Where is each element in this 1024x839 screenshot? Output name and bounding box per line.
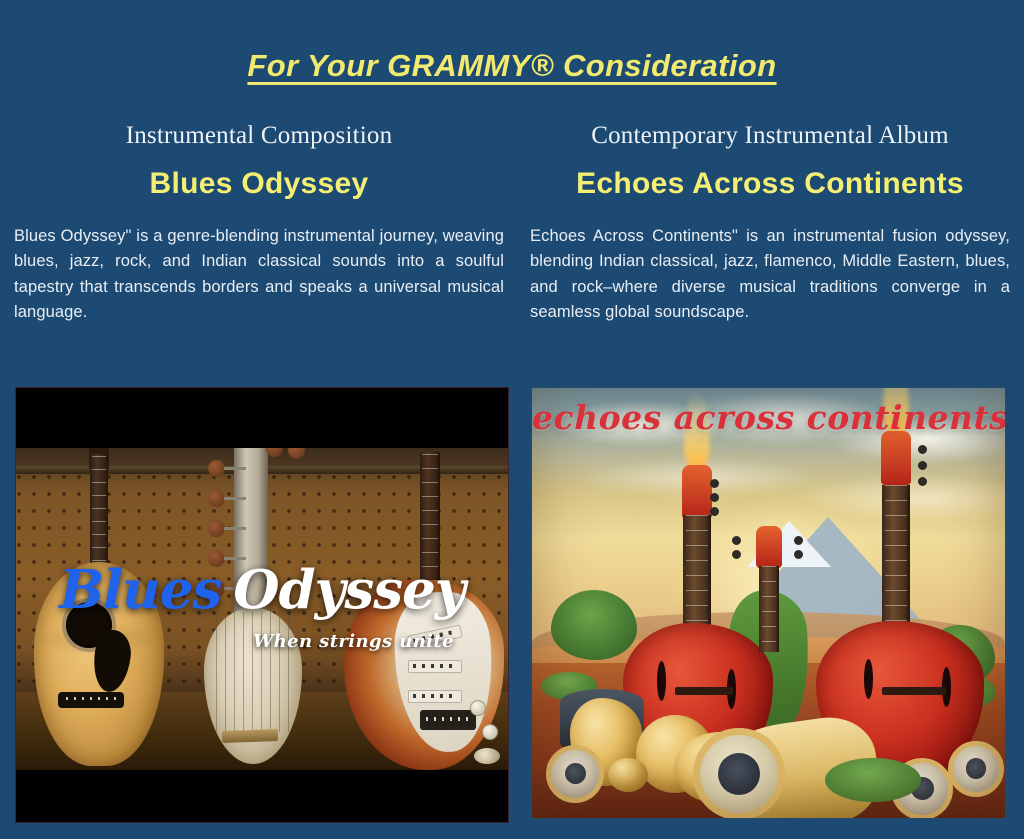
acoustic-guitar-icon [28, 454, 168, 770]
category-label-contemporary-instrumental-album: Contemporary Instrumental Album [530, 122, 1010, 150]
album-description-right: Echoes Across Continents" is an instrume… [530, 224, 1010, 326]
fyc-poster: For Your GRAMMY® Consideration Instrumen… [0, 0, 1024, 839]
album-title-blues-odyssey: Blues Odyssey [14, 167, 504, 200]
lute-instrument-icon [198, 448, 308, 770]
entries-container: Instrumental Composition Blues Odyssey B… [0, 122, 1024, 326]
letterbox-top [16, 388, 508, 448]
guitar-shop-photo [16, 448, 508, 770]
red-string-instrument-middle [726, 526, 812, 696]
desert-landscape-illustration [532, 388, 1005, 818]
clay-pot-icon [608, 758, 648, 792]
entry-column-right: Contemporary Instrumental Album Echoes A… [512, 122, 1024, 326]
red-string-instrument-right [806, 431, 986, 761]
entry-column-left: Instrumental Composition Blues Odyssey B… [0, 122, 512, 326]
drum-head-icon [948, 741, 1004, 797]
drum-head-icon [546, 745, 604, 803]
album-description-left: Blues Odyssey" is a genre-blending instr… [14, 224, 504, 326]
page-title: For Your GRAMMY® Consideration [0, 48, 1024, 84]
electric-guitar-icon [334, 452, 504, 770]
album-title-echoes-across-continents: Echoes Across Continents [530, 167, 1010, 200]
album-artwork-blues-odyssey: BluesOdyssey When strings unite [16, 388, 508, 822]
category-label-instrumental-composition: Instrumental Composition [14, 122, 504, 150]
artwork-title-echoes-across-continents: echoes across continents [532, 398, 1005, 437]
bush-icon [825, 758, 921, 802]
album-artwork-echoes-across-continents: echoes across continents [532, 388, 1005, 818]
large-drum-head [693, 728, 785, 818]
letterbox-bottom [16, 770, 508, 822]
